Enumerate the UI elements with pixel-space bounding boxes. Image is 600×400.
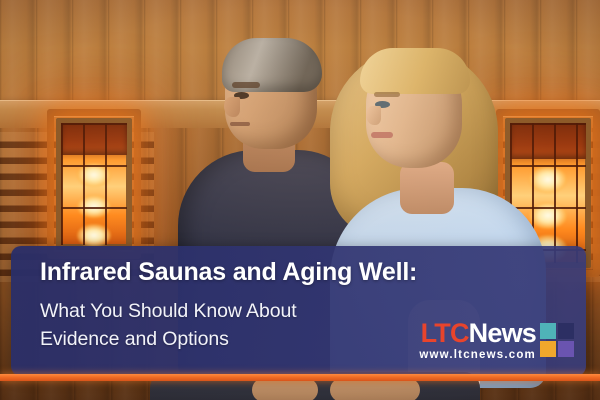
woman-eyebrow [374,92,400,97]
hand-right [330,378,420,400]
woman-neck [400,162,454,214]
logo-wordmark: LTCNews [421,320,536,347]
man-mouth [230,122,250,126]
woman-mouth [371,132,393,138]
logo-square-gold [540,341,556,357]
logo-url: www.ltcnews.com [419,349,536,361]
logo-text-news: News [469,318,536,348]
logo-square-grid [540,323,574,357]
article-hero-card: Infrared Saunas and Aging Well: What You… [0,0,600,400]
title-banner: Infrared Saunas and Aging Well: What You… [11,246,586,376]
woman-nose [366,106,381,125]
infrared-heater-panel-left [56,118,132,250]
hand-left [252,378,318,400]
ltcnews-logo[interactable]: LTCNews www.ltcnews.com [380,320,576,368]
man-nose [224,97,240,117]
logo-text-ltc: LTC [421,318,469,348]
woman-bangs [360,48,470,94]
man-eyebrow [232,82,260,88]
accent-rule [0,374,600,381]
heater-grille-left [61,123,127,245]
page-title: Infrared Saunas and Aging Well: [40,258,576,286]
logo-square-teal [540,323,556,339]
logo-square-navy [558,323,574,339]
logo-square-purple [558,341,574,357]
